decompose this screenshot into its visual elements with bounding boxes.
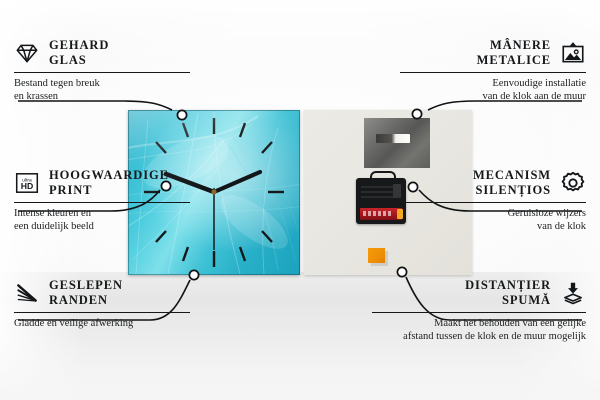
feature-hoogwaardige-print: ultra HD HOOGWAARDIGE PRINT Intense kleu… bbox=[14, 168, 190, 233]
feature-manere-metalice: MÂNERE METALICE Eenvoudige installatie v… bbox=[400, 38, 586, 103]
feature-mecanism-silentios: MECANISM SILENȚIOS Geruisloze wijzers va… bbox=[400, 168, 586, 233]
feature-description: Gladde en veilige afwerking bbox=[14, 317, 190, 330]
mechanism-hook bbox=[370, 171, 396, 183]
metal-hanger-plate bbox=[364, 118, 430, 168]
picture-frame-hanger-icon bbox=[560, 40, 586, 66]
feature-description: Maakt het behouden van een gelijke afsta… bbox=[372, 317, 586, 343]
feature-divider bbox=[14, 312, 190, 313]
battery-label bbox=[363, 211, 393, 216]
feature-title: MECANISM SILENȚIOS bbox=[473, 168, 551, 198]
diamond-icon bbox=[14, 40, 40, 66]
feature-heading: ultra HD HOOGWAARDIGE PRINT bbox=[14, 168, 190, 198]
feature-heading: MÂNERE METALICE bbox=[400, 38, 586, 68]
feature-divider bbox=[372, 312, 586, 313]
feature-gehard-glas: GEHARD GLAS Bestand tegen breuk en krass… bbox=[14, 38, 190, 103]
feature-description: Bestand tegen breuk en krassen bbox=[14, 77, 190, 103]
feature-title: GEHARD GLAS bbox=[49, 38, 109, 68]
feature-geslepen-randen: GESLEPEN RANDEN Gladde en veilige afwerk… bbox=[14, 278, 190, 330]
gear-icon bbox=[560, 170, 586, 196]
feature-heading: GESLEPEN RANDEN bbox=[14, 278, 190, 308]
clock-mechanism-box bbox=[356, 178, 406, 224]
feature-distantier-spuma: DISTANȚIER SPUMĂ Maakt het behouden van … bbox=[372, 278, 586, 343]
feature-divider bbox=[14, 202, 190, 203]
feature-title: GESLEPEN RANDEN bbox=[49, 278, 123, 308]
feature-heading: DISTANȚIER SPUMĂ bbox=[372, 278, 586, 308]
svg-text:HD: HD bbox=[21, 181, 34, 191]
feature-divider bbox=[14, 72, 190, 73]
feature-divider bbox=[400, 202, 586, 203]
aa-battery bbox=[360, 208, 402, 220]
clock-center-cap bbox=[211, 189, 216, 194]
feature-description: Eenvoudige installatie van de klok aan d… bbox=[400, 77, 586, 103]
feature-divider bbox=[400, 72, 586, 73]
feature-heading: GEHARD GLAS bbox=[14, 38, 190, 68]
foam-spacer-pad bbox=[368, 248, 385, 263]
spacer-stack-icon bbox=[560, 280, 586, 306]
feature-description: Intense kleuren en een duidelijk beeld bbox=[14, 207, 190, 233]
feature-heading: MECANISM SILENȚIOS bbox=[400, 168, 586, 198]
feature-title: DISTANȚIER SPUMĂ bbox=[465, 278, 551, 308]
feature-description: Geruisloze wijzers van de klok bbox=[400, 207, 586, 233]
feature-title: HOOGWAARDIGE PRINT bbox=[49, 168, 169, 198]
feature-title: MÂNERE METALICE bbox=[477, 38, 551, 68]
minute-hand bbox=[214, 172, 260, 192]
ground-edges-icon bbox=[14, 280, 40, 306]
ultra-hd-icon: ultra HD bbox=[14, 170, 40, 196]
infographic-canvas: GEHARD GLAS Bestand tegen breuk en krass… bbox=[0, 0, 600, 400]
hanger-slot bbox=[376, 134, 410, 143]
